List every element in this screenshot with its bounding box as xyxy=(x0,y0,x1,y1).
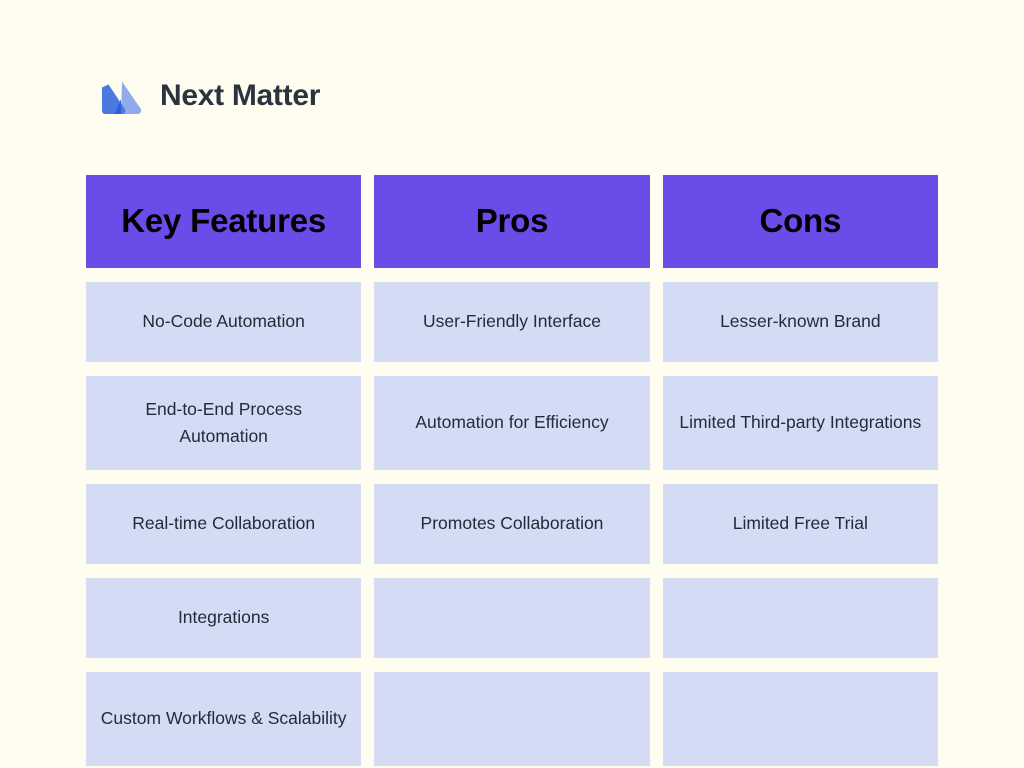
table-row: Custom Workflows & Scalability xyxy=(86,672,938,766)
brand-name: Next Matter xyxy=(160,81,320,111)
cell-text: Automation for Efficiency xyxy=(415,409,608,436)
cell-text: No-Code Automation xyxy=(142,308,304,335)
cell-pros: Promotes Collaboration xyxy=(374,484,649,564)
cell-cons-empty xyxy=(663,578,938,658)
cell-pros-empty xyxy=(374,578,649,658)
table-row: End-to-End Process Automation Automation… xyxy=(86,376,938,470)
column-header-cons: Cons xyxy=(663,175,938,268)
column-header-pros: Pros xyxy=(374,175,649,268)
cell-key-features: Custom Workflows & Scalability xyxy=(86,672,361,766)
cell-text: Real-time Collaboration xyxy=(132,510,315,537)
cell-text: Custom Workflows & Scalability xyxy=(101,705,347,732)
cell-text: Promotes Collaboration xyxy=(421,510,604,537)
table-row: Real-time Collaboration Promotes Collabo… xyxy=(86,484,938,564)
cell-text: Integrations xyxy=(178,604,269,631)
column-header-label: Cons xyxy=(759,203,841,239)
cell-pros-empty xyxy=(374,672,649,766)
brand-logo: Next Matter xyxy=(98,76,320,116)
column-header-label: Key Features xyxy=(121,203,326,239)
cell-pros: Automation for Efficiency xyxy=(374,376,649,470)
cell-cons-empty xyxy=(663,672,938,766)
column-header-label: Pros xyxy=(476,203,549,239)
table-row: No-Code Automation User-Friendly Interfa… xyxy=(86,282,938,362)
feature-comparison-table: Key Features Pros Cons No-Code Automatio… xyxy=(86,175,938,766)
cell-text: User-Friendly Interface xyxy=(423,308,601,335)
comparison-table-page: Next Matter Key Features Pros Cons No-Co… xyxy=(0,0,1024,768)
cell-key-features: No-Code Automation xyxy=(86,282,361,362)
cell-text: End-to-End Process Automation xyxy=(100,396,347,450)
next-matter-logo-icon xyxy=(98,76,144,116)
cell-cons: Lesser-known Brand xyxy=(663,282,938,362)
cell-key-features: Integrations xyxy=(86,578,361,658)
cell-key-features: End-to-End Process Automation xyxy=(86,376,361,470)
cell-key-features: Real-time Collaboration xyxy=(86,484,361,564)
table-row: Integrations xyxy=(86,578,938,658)
column-header-key-features: Key Features xyxy=(86,175,361,268)
table-header-row: Key Features Pros Cons xyxy=(86,175,938,268)
cell-cons: Limited Third-party Integrations xyxy=(663,376,938,470)
cell-text: Lesser-known Brand xyxy=(720,308,881,335)
cell-cons: Limited Free Trial xyxy=(663,484,938,564)
cell-pros: User-Friendly Interface xyxy=(374,282,649,362)
cell-text: Limited Free Trial xyxy=(733,510,868,537)
cell-text: Limited Third-party Integrations xyxy=(679,409,921,436)
